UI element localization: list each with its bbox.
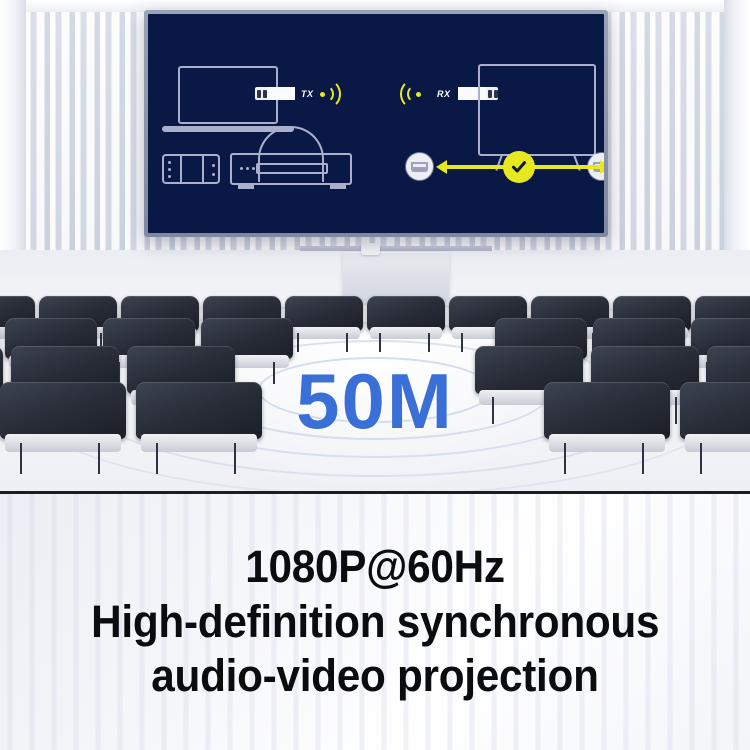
console-split (180, 156, 182, 182)
player-foot (330, 185, 346, 189)
hdmi-transmitter-dongle (255, 87, 295, 100)
chair-back (367, 296, 445, 331)
chair-leg (675, 397, 677, 424)
product-banner: 50M (0, 0, 750, 750)
chair-leg (346, 333, 348, 352)
podium-table (343, 252, 449, 301)
player-tray (256, 163, 328, 174)
caption-line-subheadline: audio-video projection (151, 651, 598, 701)
chair-leg (297, 333, 299, 352)
audience-chair (136, 382, 262, 474)
console-dot (168, 175, 171, 178)
console-dot (212, 164, 215, 167)
podium-object (361, 243, 380, 255)
chair-leg (379, 333, 381, 352)
audience-chair (285, 296, 363, 352)
hdmi-port-icon (406, 153, 433, 180)
caption-line-resolution: 1080P@60Hz (245, 542, 504, 592)
player-dot (246, 167, 249, 170)
chair-back (285, 296, 363, 331)
console-dot (168, 161, 171, 164)
console-split (202, 156, 204, 182)
audience-chair (0, 382, 126, 474)
caption-line-headline: High-definition synchronous (91, 597, 659, 647)
chair-leg (273, 362, 275, 384)
wifi-wave-icon (400, 79, 428, 109)
audience-chair (367, 296, 445, 352)
chair-leg (461, 333, 463, 352)
hdmi-plug (411, 162, 428, 172)
check-circle-icon (503, 151, 535, 183)
chair-leg (234, 443, 236, 474)
hero-photo: 50M (0, 0, 750, 493)
wifi-wave-icon (313, 79, 341, 109)
dongle-contact (257, 90, 261, 98)
projection-screen: TX RX (144, 10, 608, 237)
chair-back (0, 382, 126, 439)
chair-back (680, 382, 750, 439)
chair-seat (685, 434, 750, 452)
chair-leg (98, 443, 100, 474)
chair-back (136, 382, 262, 439)
chair-leg (492, 397, 494, 424)
tv-icon (478, 64, 596, 156)
screen-diagram: TX RX (148, 14, 604, 233)
dongle-body (267, 87, 295, 100)
chair-leg (20, 443, 22, 474)
chair-leg (428, 333, 430, 352)
chair-seat (141, 434, 257, 452)
chair-seat (549, 434, 665, 452)
chair-back (544, 382, 670, 439)
chair-leg (156, 443, 158, 474)
stage-rail (300, 246, 492, 251)
tx-label: TX (301, 89, 314, 99)
rx-label: RX (437, 89, 451, 99)
audience-chair (680, 382, 750, 474)
console-dot (212, 173, 215, 176)
audience-chair (544, 382, 670, 474)
chair-leg (700, 443, 702, 474)
console-dot (168, 168, 171, 171)
player-dot (240, 167, 243, 170)
chair-seat (5, 434, 121, 452)
arrow-head-left (436, 160, 447, 174)
caption-panel: 1080P@60Hz High-definition synchronous a… (0, 494, 750, 750)
chair-leg (564, 443, 566, 474)
arrow-head-right (600, 160, 604, 174)
chair-leg (642, 443, 644, 474)
player-dot (252, 167, 255, 170)
player-foot (238, 185, 254, 189)
